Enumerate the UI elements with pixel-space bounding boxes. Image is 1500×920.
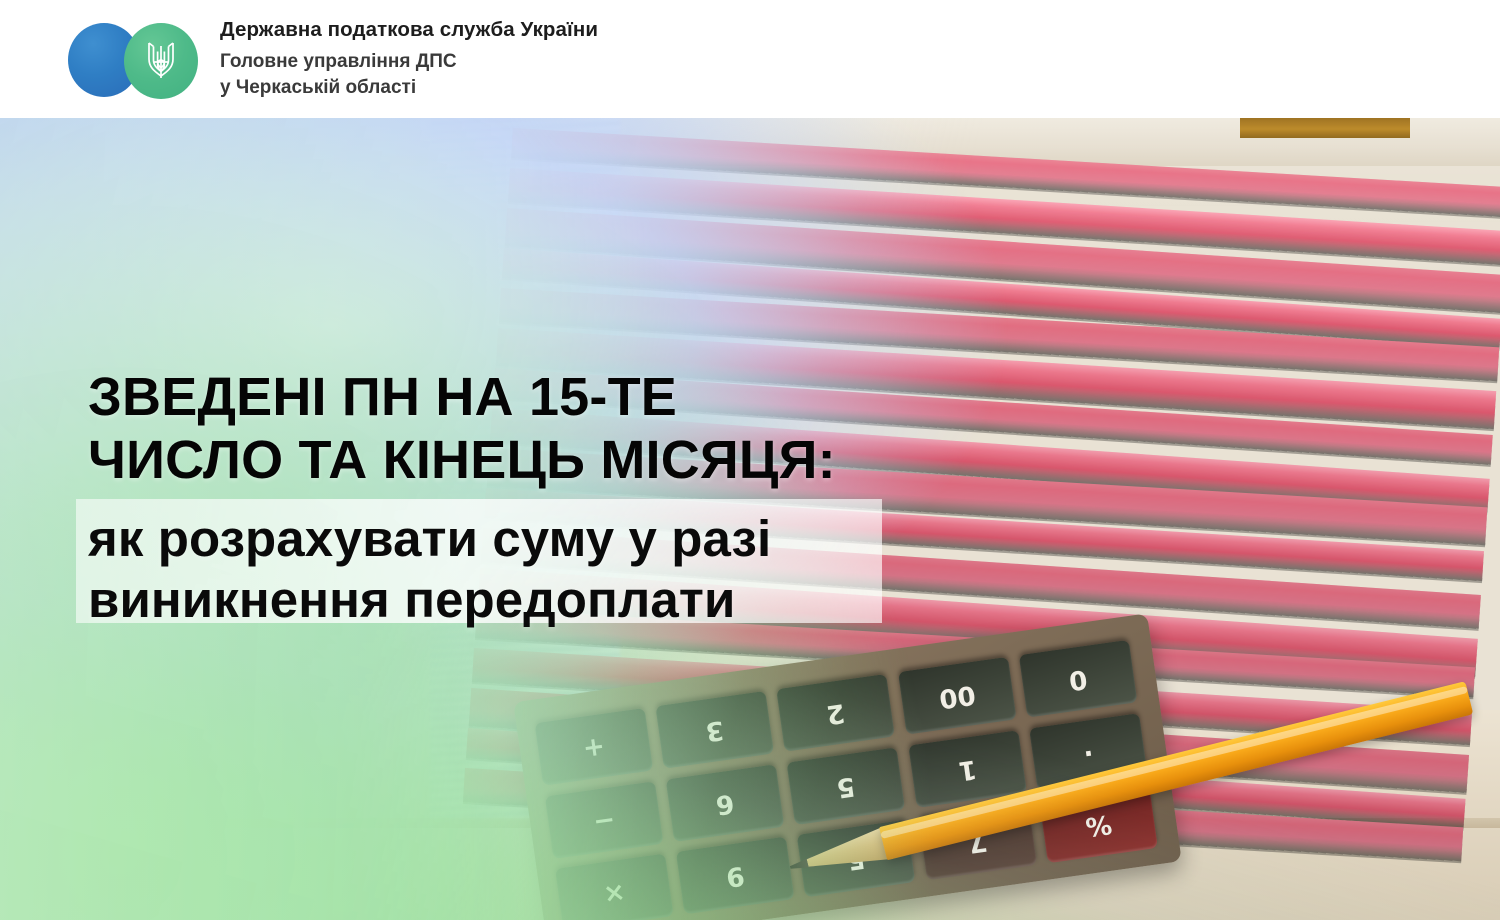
hero-subtitle-line-1: як розрахувати суму у разі bbox=[88, 508, 1068, 569]
hero-copy: ЗВЕДЕНІ ПН НА 15-ТЕ ЧИСЛО ТА КІНЕЦЬ МІСЯ… bbox=[0, 118, 1500, 920]
organization-name: Державна податкова служба України bbox=[220, 17, 598, 43]
banner-root: Державна податкова служба України Головн… bbox=[0, 0, 1500, 920]
logo-green-circle-icon bbox=[124, 23, 198, 99]
department-line-1: Головне управління ДПС bbox=[220, 49, 598, 75]
hero-title-line-1: ЗВЕДЕНІ ПН НА 15-ТЕ bbox=[88, 366, 1068, 429]
site-header: Державна податкова служба України Головн… bbox=[0, 0, 1500, 118]
ukraine-trident-icon bbox=[144, 40, 178, 82]
department-line-2: у Черкаській області bbox=[220, 75, 598, 101]
hero-title-line-2: ЧИСЛО ТА КІНЕЦЬ МІСЯЦЯ: bbox=[88, 429, 1068, 492]
hero-subtitle: як розрахувати суму у разі виникнення пе… bbox=[88, 508, 1068, 630]
header-text-block: Державна податкова служба України Головн… bbox=[220, 17, 598, 101]
hero-subtitle-line-2: виникнення передоплати bbox=[88, 569, 1068, 630]
hero-title: ЗВЕДЕНІ ПН НА 15-ТЕ ЧИСЛО ТА КІНЕЦЬ МІСЯ… bbox=[88, 366, 1068, 491]
hero-photo-stage: +32000−651·×957% ЗВЕДЕНІ ПН НА 15-ТЕ ЧИС… bbox=[0, 118, 1500, 920]
dps-logo[interactable] bbox=[62, 19, 204, 99]
